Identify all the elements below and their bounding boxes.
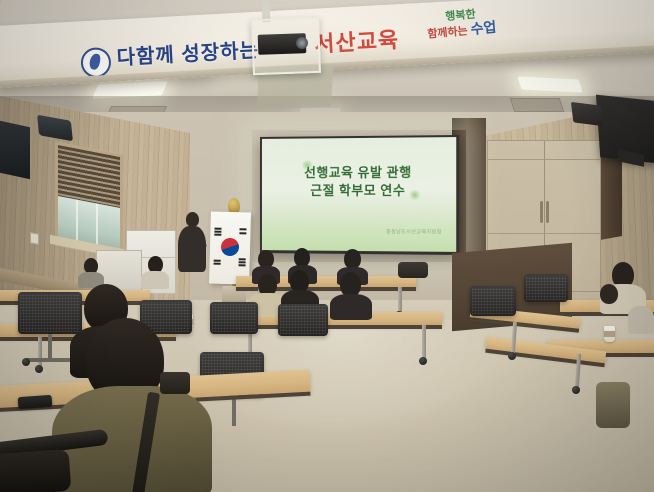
slide-bottom-band	[262, 221, 456, 252]
screen-surface: 선행교육 유발 관행 근절 학부모 연수 충청남도서산교육지원청	[262, 137, 456, 252]
trigram-4b	[239, 232, 246, 234]
caster-left-mid	[35, 365, 43, 373]
trigram-2c	[239, 264, 246, 266]
trigram-2b	[239, 261, 246, 263]
trigram-3a	[214, 260, 221, 262]
wall-outlet	[30, 232, 39, 245]
trigram-4a	[239, 228, 246, 230]
banner-script-line2: 함께하는	[427, 25, 468, 41]
chair-mesh-texture-3	[212, 304, 256, 332]
table-left-mid-leg	[38, 337, 42, 367]
chair-left-back[interactable]	[18, 292, 82, 334]
table-row2-leg-r	[422, 325, 426, 359]
right-wall-speaker	[571, 102, 603, 126]
slide-title: 선행교육 유발 관행 근절 학부모 연수	[262, 163, 456, 199]
trigram-1c	[214, 234, 221, 236]
caster-right-a	[508, 352, 516, 360]
slide-title-line1: 선행교육 유발 관행	[262, 163, 456, 181]
chair-mesh-texture-6	[526, 276, 566, 300]
projection-screen: 선행교육 유발 관행 근절 학부모 연수 충청남도서산교육지원청	[260, 135, 459, 255]
bag-on-row3-table	[398, 262, 428, 278]
taeguk-symbol-icon	[221, 238, 239, 256]
projector-lens-icon	[296, 37, 308, 49]
presenter-head	[186, 212, 199, 227]
caster-chair-left-a	[22, 358, 30, 366]
caster-r2-r	[419, 357, 427, 365]
chair-foreground-right-stem	[232, 396, 236, 426]
trigram-1b	[214, 231, 221, 233]
trigram-2a	[239, 258, 246, 260]
attendee-far-left-b-body	[141, 271, 169, 289]
seosan-education-office-emblem-icon	[80, 47, 112, 79]
chair-center-a[interactable]	[210, 302, 258, 334]
banner-text-blue: 다함께 성장하는	[116, 34, 260, 71]
attendee-row2-dark-b-body	[330, 294, 372, 320]
chair-center-b[interactable]	[278, 304, 328, 336]
chair-mesh-texture	[20, 294, 80, 332]
chair-seat-foreground[interactable]	[0, 449, 71, 492]
caster-right-b	[572, 386, 580, 394]
chair-right-b[interactable]	[524, 274, 568, 302]
chair-right-a[interactable]	[470, 286, 516, 316]
cabinet-handle-left[interactable]	[540, 201, 543, 223]
south-korea-flag	[209, 211, 251, 284]
slide-title-line2: 근절 학부모 연수	[262, 181, 456, 199]
cabinet-line-top	[488, 159, 600, 160]
slide-footer-logo: 충청남도서산교육지원청	[386, 228, 442, 235]
bag-under-right-table	[596, 382, 630, 428]
cabinet-line-mid	[488, 233, 600, 234]
trigram-1a	[214, 228, 221, 230]
crossbody-bag	[160, 372, 190, 394]
banner-text-red: 서산교육	[313, 22, 400, 59]
banner-script-line3: 수업	[470, 18, 497, 36]
attendee-row3-c-head	[344, 249, 361, 269]
chair-mesh-texture-4	[280, 306, 326, 334]
coffee-cup-with-sleeve[interactable]	[604, 326, 615, 342]
conference-room-photo: 선행교육 유발 관행 근절 학부모 연수 충청남도서산교육지원청 다함께 성장하…	[0, 0, 654, 492]
attendee-right-grey-head	[600, 284, 618, 304]
smartphone[interactable]	[18, 395, 53, 409]
table-row3-leg-r	[398, 287, 402, 313]
chair-mesh-texture-5	[472, 288, 514, 314]
banner-script-logotype: 행복한 함께하는 수업	[412, 7, 511, 49]
trigram-3b	[214, 263, 221, 265]
attendee-right-grey-body	[628, 306, 654, 334]
left-upper-speaker	[0, 121, 30, 179]
cabinet-handle-right[interactable]	[546, 201, 549, 223]
chair-left-back-stem	[48, 334, 52, 360]
coffee-cup-sleeve	[604, 331, 615, 337]
